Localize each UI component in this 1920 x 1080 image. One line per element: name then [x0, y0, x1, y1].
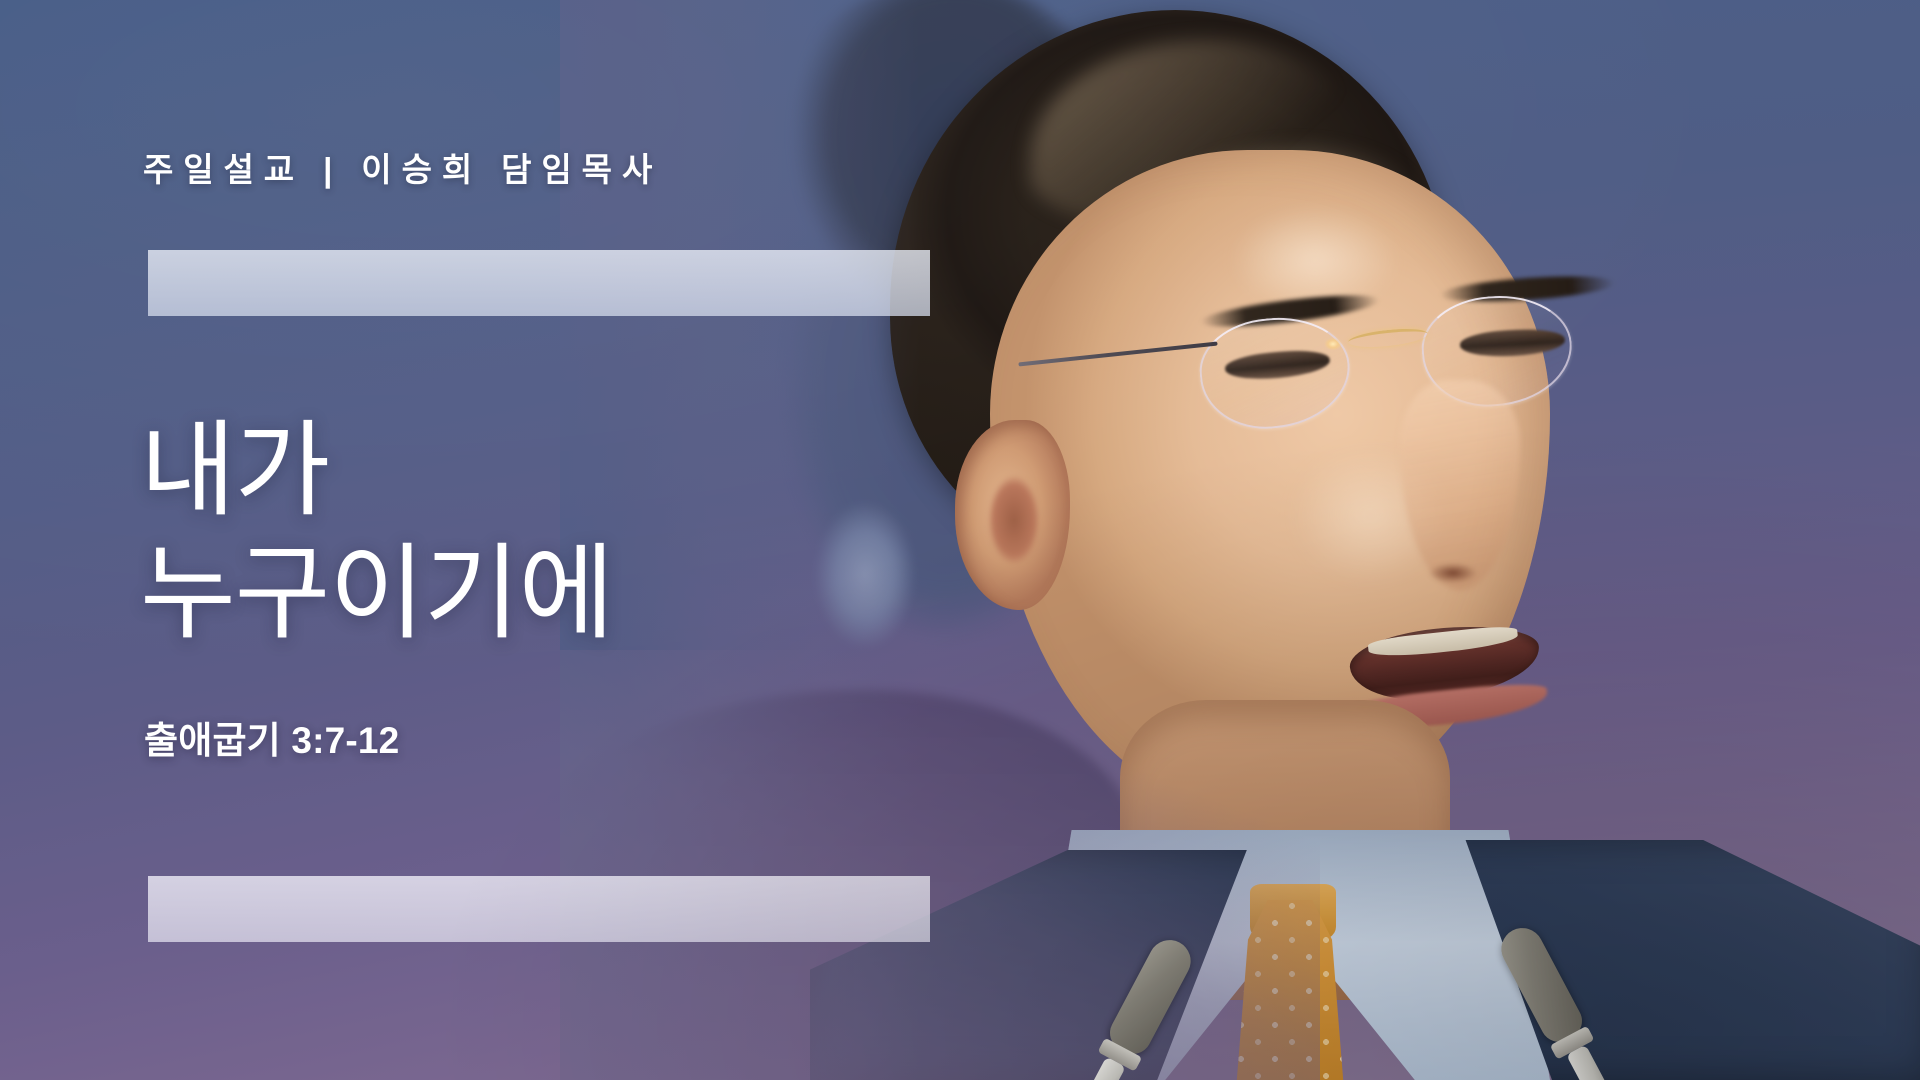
sermon-title: 내가 누구이기에 — [140, 410, 613, 655]
text-overlay: 주일설교 | 이승희 담임목사 내가 누구이기에 출애굽기 3:7-12 — [0, 0, 1920, 1080]
sermon-kicker: 주일설교 | 이승희 담임목사 — [143, 143, 662, 191]
sermon-title-slide: 주일설교 | 이승희 담임목사 내가 누구이기에 출애굽기 3:7-12 — [0, 0, 1920, 1080]
scripture-reference: 출애굽기 3:7-12 — [144, 710, 399, 764]
